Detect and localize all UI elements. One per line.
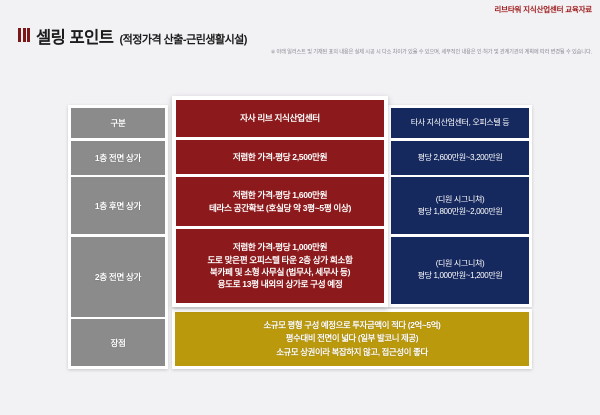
title-subtitle-text: (적정가격 산출-근린생활시설): [119, 31, 247, 47]
label-cell-1f-front: 1층 전면 상가: [71, 141, 165, 175]
bullet-bars-icon: [18, 28, 30, 42]
own-cell-1f-rear: 저렴한 가격-평당 1,600만원 테라스 공간확보 (호실당 약 3평~5평 …: [176, 177, 384, 226]
own-product-column: 자사 리브 지식산업센터 저렴한 가격-평당 2,500만원 저렴한 가격-평당…: [172, 96, 388, 307]
competitor-cell-1f-front: 평당 2,600만원~3,200만원: [391, 141, 529, 175]
competitor-column-header: 타사 지식산업센터, 오피스텔 등: [391, 108, 529, 138]
disclaimer-note: ※ 아래 일러스트 및 기재된 표의 내용은 실제 시공 시 다소 차이가 있을…: [271, 48, 592, 55]
merit-content: 소규모 평형 구성 예정으로 투자금액이 적다 (2억~5억) 평수대비 전면이…: [175, 312, 529, 366]
comparison-table: 구분 1층 전면 상가 1층 후면 상가 2층 전면 상가 장점 자사 리브 지…: [68, 96, 532, 369]
label-cell-1f-rear: 1층 후면 상가: [71, 177, 165, 234]
label-cell-category: 구분: [71, 108, 165, 138]
competitor-cell-2f-front: (디원 시그니쳐) 평당 1,000만원~1,200만원: [391, 237, 529, 305]
competitor-cell-1f-rear: (디원 시그니쳐) 평당 1,800만원~2,000만원: [391, 177, 529, 234]
label-cell-2f-front: 2층 전면 상가: [71, 237, 165, 317]
label-cell-merit: 장점: [71, 319, 165, 366]
own-cell-1f-front: 저렴한 가격-평당 2,500만원: [176, 140, 384, 174]
own-column-header: 자사 리브 지식산업센터: [176, 100, 384, 137]
merit-row: 소규모 평형 구성 예정으로 투자금액이 적다 (2억~5억) 평수대비 전면이…: [172, 309, 532, 369]
label-column: 구분 1층 전면 상가 1층 후면 상가 2층 전면 상가 장점: [68, 105, 168, 369]
page-title: 셀링 포인트 (적정가격 산출-근린생활시설): [18, 24, 247, 48]
own-cell-2f-front: 저렴한 가격-평당 1,000만원 도로 맞은편 오피스텔 타운 2층 상가 희…: [176, 229, 384, 303]
competitor-column: 타사 지식산업센터, 오피스텔 등 평당 2,600만원~3,200만원 (디원…: [388, 105, 532, 307]
document-tag: 리브타워 지식산업센터 교육자료: [494, 4, 592, 15]
title-main-text: 셀링 포인트: [36, 24, 113, 48]
